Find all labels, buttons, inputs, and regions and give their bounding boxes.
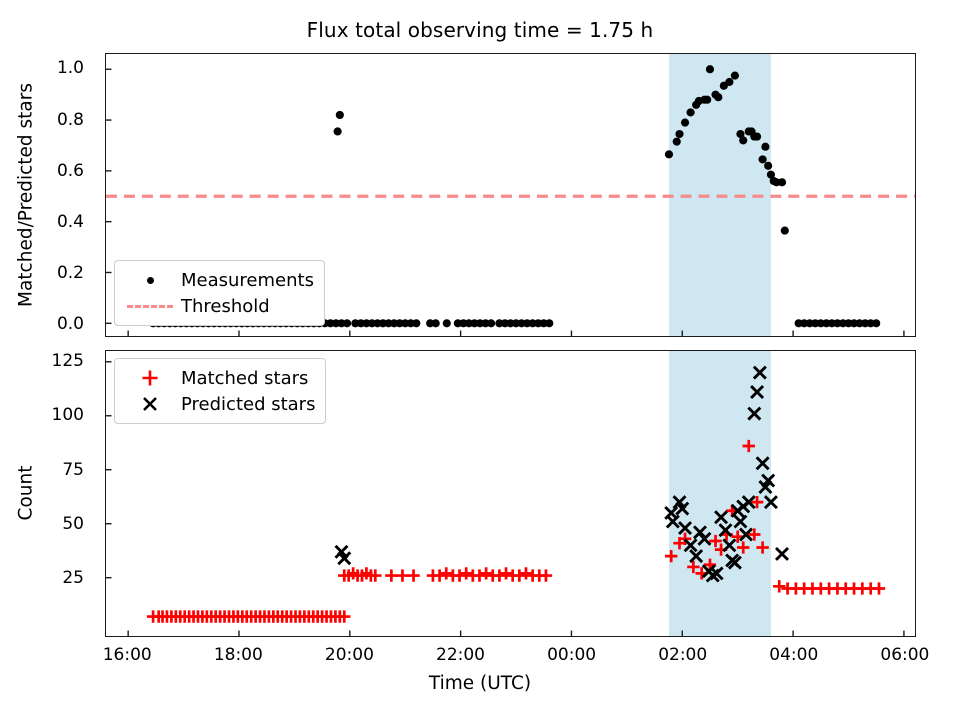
legend-item-matched-stars[interactable]: Matched stars xyxy=(123,365,315,391)
top-panel-ytick-labels: 0.00.20.40.60.81.0 xyxy=(0,53,92,337)
x-tick-label: 20:00 xyxy=(325,645,374,665)
y-tick-label: 25 xyxy=(62,568,92,588)
x-tick-label: 06:00 xyxy=(880,645,929,665)
y-tick-label: 0.2 xyxy=(57,263,92,283)
y-tick-label: 50 xyxy=(62,514,92,534)
dashed-line-icon xyxy=(123,295,177,317)
y-tick-label: 100 xyxy=(52,405,92,425)
y-tick-label: 1.0 xyxy=(57,58,92,78)
cross-marker-icon xyxy=(123,393,177,415)
y-tick-label: 125 xyxy=(52,351,92,371)
y-tick-label: 0.6 xyxy=(57,161,92,181)
x-tick-label: 04:00 xyxy=(769,645,818,665)
figure-canvas: Flux total observing time = 1.75 h 0.00.… xyxy=(0,0,960,720)
y-tick-label: 0.8 xyxy=(57,110,92,130)
legend-item-threshold[interactable]: Threshold xyxy=(123,293,314,319)
x-axis-label: Time (UTC) xyxy=(0,673,960,694)
y-tick-label: 75 xyxy=(62,460,92,480)
bottom-panel-ylabel: Count xyxy=(16,466,37,521)
x-tick-label: 18:00 xyxy=(214,645,263,665)
legend-label-measurements: Measurements xyxy=(177,270,314,291)
legend-item-predicted-stars[interactable]: Predicted stars xyxy=(123,391,315,417)
legend-label-matched-stars: Matched stars xyxy=(177,368,308,389)
bottom-panel-legend[interactable]: Matched stars Predicted stars xyxy=(114,358,326,424)
x-tick-label: 02:00 xyxy=(658,645,707,665)
y-tick-label: 0.4 xyxy=(57,212,92,232)
dot-marker-icon xyxy=(123,269,177,291)
plus-marker-icon xyxy=(123,367,177,389)
bottom-panel-ytick-labels: 255075100125 xyxy=(0,350,92,637)
x-tick-label: 16:00 xyxy=(103,645,152,665)
legend-item-measurements[interactable]: Measurements xyxy=(123,267,314,293)
top-panel-ylabel: Matched/Predicted stars xyxy=(16,83,37,307)
y-tick-label: 0.0 xyxy=(57,314,92,334)
series-matched-stars xyxy=(147,440,885,623)
legend-label-threshold: Threshold xyxy=(177,296,270,317)
x-tick-label: 22:00 xyxy=(436,645,485,665)
legend-label-predicted-stars: Predicted stars xyxy=(177,394,315,415)
x-tick-label: 00:00 xyxy=(547,645,596,665)
top-panel-legend[interactable]: Measurements Threshold xyxy=(114,260,325,326)
figure-title: Flux total observing time = 1.75 h xyxy=(0,18,960,42)
